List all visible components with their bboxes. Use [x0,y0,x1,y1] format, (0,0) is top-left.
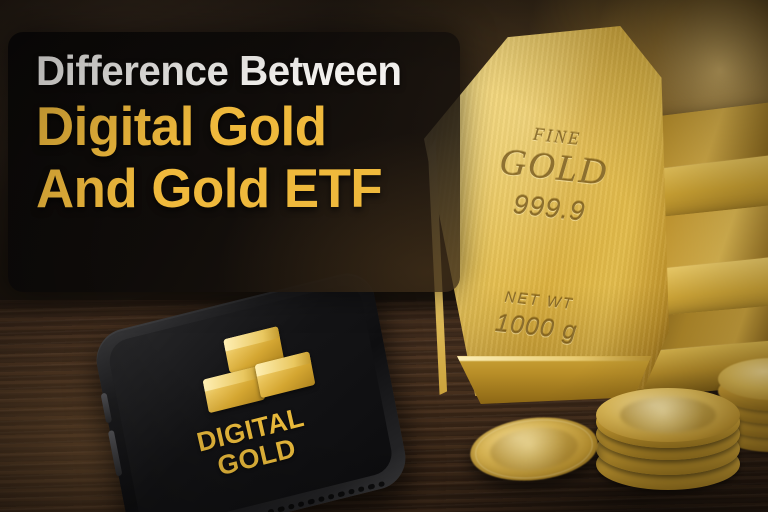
title-panel: Difference Between Digital Gold And Gold… [8,32,460,292]
gold-bar-icon-left [203,366,266,413]
gold-bar-icon-right [255,351,316,398]
headline-line-2: Digital Gold [36,99,433,154]
headline-line-3: And Gold ETF [36,161,433,216]
headline: Difference Between Digital Gold And Gold… [36,50,450,216]
headline-line-1: Difference Between [36,50,433,92]
app-title-line1: DIGITAL [125,386,376,475]
gold-bars-stack-icon [194,320,317,420]
thumbnail-canvas: FINE GOLD 999.9 NET WT 1000 g DIGITAL [0,0,768,512]
gold-bar-icon-top [223,326,284,373]
coin-top-face [596,388,740,442]
gold-coin-stack-near [596,388,740,492]
